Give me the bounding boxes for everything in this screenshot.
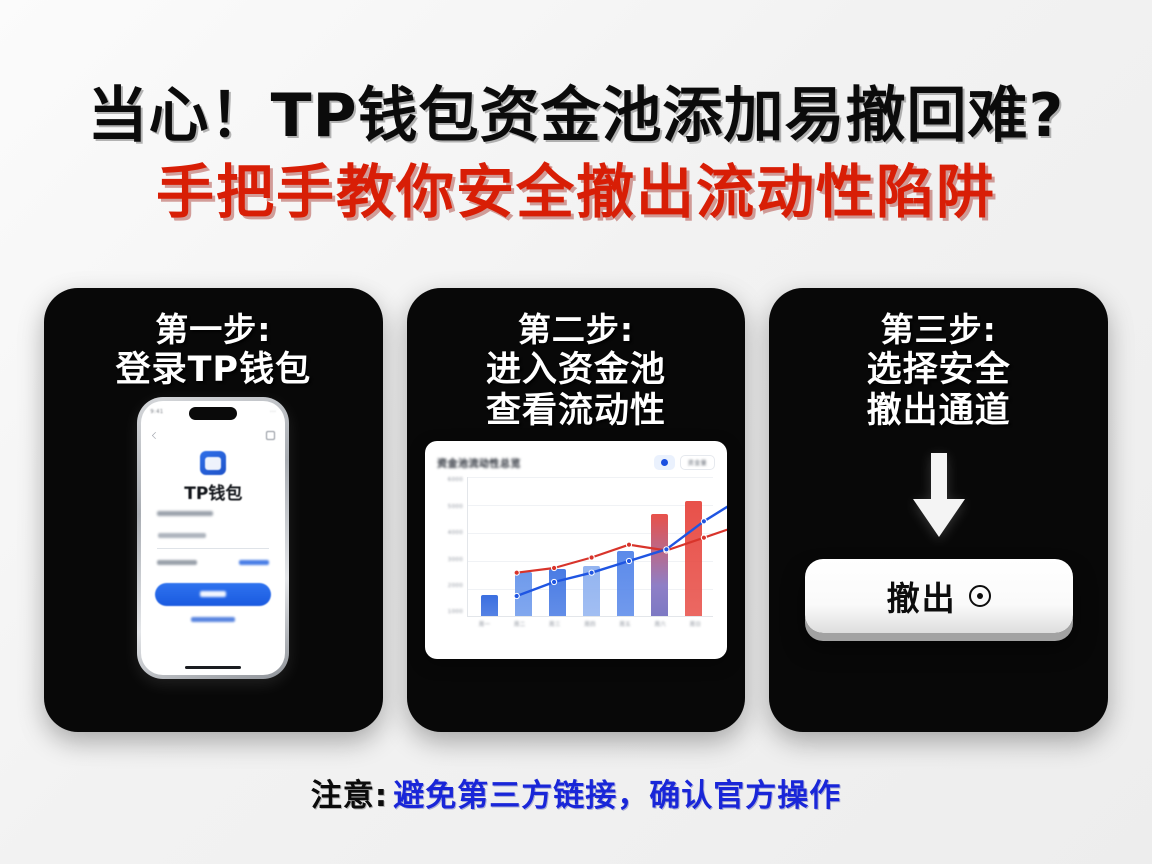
step-3-title-line2: 撤出通道 [769, 391, 1108, 432]
legend-label: 资金量 [688, 458, 707, 467]
data-point-marker [514, 571, 519, 576]
scan-icon[interactable] [266, 431, 275, 440]
data-point-marker [552, 566, 557, 571]
field-label [157, 511, 213, 516]
footer-note-body: 避免第三方链接，确认官方操作 [393, 778, 841, 814]
headline-sub: 手把手教你安全撤出流动性陷阱 [0, 161, 1152, 224]
status-bar-indicators: ··· [270, 409, 276, 415]
data-point-marker [664, 547, 669, 552]
legend-dot-icon [661, 459, 668, 466]
y-tick: 2000 [437, 583, 463, 589]
chevron-left-icon[interactable] [152, 432, 159, 439]
x-tick: 周二 [514, 620, 526, 628]
step-3-label: 第三步: [769, 310, 1108, 350]
plot-area [467, 477, 713, 617]
x-tick: 周一 [479, 620, 491, 628]
y-tick: 6000 [437, 477, 463, 483]
y-tick: 1000 [437, 609, 463, 615]
step-2-title-line2: 查看流动性 [407, 391, 746, 432]
app-nav-row [141, 429, 285, 443]
phone-frame: 9:41 ··· TP钱包 [137, 397, 289, 679]
x-tick: 周六 [654, 620, 666, 628]
y-tick: 3000 [437, 557, 463, 563]
home-indicator [185, 666, 241, 669]
chart-plot: 6000 5000 4000 3000 2000 1000 [437, 477, 715, 635]
options-row [157, 559, 269, 566]
y-axis: 6000 5000 4000 3000 2000 1000 [437, 477, 463, 615]
step-2-heading: 第二步: 进入资金池 查看流动性 [407, 288, 746, 431]
headline-block: 当心！TP钱包资金池添加易撤回难? 手把手教你安全撤出流动性陷阱 [0, 84, 1152, 223]
footer-note-label: 注意: [311, 778, 388, 814]
status-bar-time: 9:41 [150, 409, 163, 415]
x-tick: 周四 [584, 620, 596, 628]
step-3-title-line1: 选择安全 [769, 350, 1108, 391]
arrow-down-icon [910, 453, 968, 539]
x-tick: 周五 [619, 620, 631, 628]
step-2-title-line1: 进入资金池 [407, 350, 746, 391]
withdraw-button-label: 撤出 [887, 572, 957, 620]
forgot-link[interactable] [239, 560, 269, 565]
legend-item-1[interactable]: 资金量 [680, 455, 715, 470]
data-point-marker [701, 519, 706, 524]
headline-main: 当心！TP钱包资金池添加易撤回难? [0, 84, 1152, 149]
y-tick: 4000 [437, 530, 463, 536]
phone-screen: 9:41 ··· TP钱包 [141, 401, 285, 675]
phone-mockup: 9:41 ··· TP钱包 [137, 397, 289, 679]
data-point-marker [552, 580, 557, 585]
footer-note: 注意: 避免第三方链接，确认官方操作 [0, 770, 1152, 815]
data-point-marker [701, 536, 706, 541]
step-card-1[interactable]: 第一步: 登录TP钱包 9:41 ··· TP钱包 [44, 288, 383, 732]
data-point-marker [514, 594, 519, 599]
data-point-marker [626, 559, 631, 564]
create-wallet-link[interactable] [191, 617, 235, 622]
chart-legend: 资金量 [654, 455, 715, 470]
field-placeholder [158, 533, 206, 538]
step-3-heading: 第三步: 选择安全 撤出通道 [769, 288, 1108, 431]
x-tick: 周三 [549, 620, 561, 628]
bar [481, 595, 498, 616]
chart-title: 资金池流动性总览 [437, 455, 521, 470]
circle-dot-icon [969, 585, 991, 607]
app-name: TP钱包 [141, 479, 285, 504]
step-card-2[interactable]: 第二步: 进入资金池 查看流动性 资金池流动性总览 资金量 6000 [407, 288, 746, 732]
line-series-svg [498, 477, 727, 617]
liquidity-chart-panel[interactable]: 资金池流动性总览 资金量 6000 5000 4000 3000 2000 [425, 441, 727, 659]
chart-header: 资金池流动性总览 资金量 [437, 453, 715, 471]
step-2-label: 第二步: [407, 310, 746, 350]
x-tick: 周日 [690, 620, 702, 628]
step-1-label: 第一步: [44, 310, 383, 350]
line-series-red [517, 525, 727, 573]
data-point-marker [589, 555, 594, 560]
step-card-3[interactable]: 第三步: 选择安全 撤出通道 撤出 [769, 288, 1108, 732]
y-tick: 5000 [437, 504, 463, 510]
data-point-marker [626, 543, 631, 548]
withdraw-button[interactable]: 撤出 [805, 559, 1073, 633]
legend-item-0[interactable] [654, 455, 675, 470]
steps-row: 第一步: 登录TP钱包 9:41 ··· TP钱包 [44, 288, 1108, 732]
step-1-title: 登录TP钱包 [44, 350, 383, 391]
data-point-marker [589, 571, 594, 576]
dynamic-island [189, 407, 237, 420]
tp-wallet-logo-icon [200, 451, 226, 475]
x-axis: 周一周二周三周四周五周六周日 [467, 620, 713, 628]
remember-checkbox[interactable] [157, 560, 197, 565]
step-1-heading: 第一步: 登录TP钱包 [44, 288, 383, 391]
login-button[interactable] [155, 583, 271, 606]
